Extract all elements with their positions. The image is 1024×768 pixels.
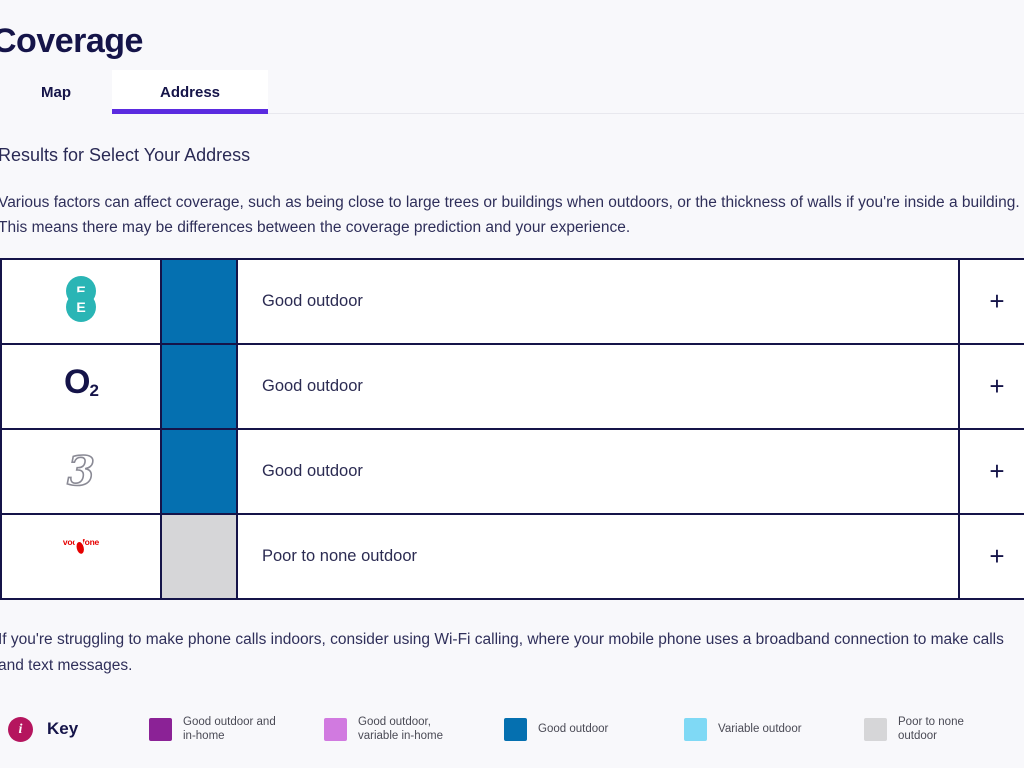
page-title: Coverage bbox=[0, 22, 143, 61]
coverage-checker-page: Coverage Map Address Results for Select … bbox=[0, 0, 1024, 768]
tab-bar: Map Address bbox=[0, 70, 1024, 114]
operator-logo-cell-vodafone: vodafone bbox=[1, 514, 161, 599]
table-row[interactable]: 3 Good outdoor + bbox=[1, 429, 1024, 514]
coverage-swatch-cell bbox=[161, 514, 237, 599]
tab-address[interactable]: Address bbox=[112, 70, 268, 114]
legend-item: Poor to none outdoor bbox=[864, 715, 1024, 743]
status-cell: Poor to none outdoor bbox=[237, 514, 959, 599]
table-row[interactable]: vodafone Poor to none outdoor + bbox=[1, 514, 1024, 599]
legend-swatch-variable-outdoor bbox=[684, 718, 707, 741]
plus-icon[interactable]: + bbox=[989, 371, 1004, 401]
coverage-key-bar: i Key Good outdoor and in-home Good outd… bbox=[0, 698, 1024, 760]
expand-cell[interactable]: + bbox=[959, 344, 1024, 429]
coverage-status-vodafone: Poor to none outdoor bbox=[238, 547, 417, 565]
coverage-swatch-vodafone bbox=[162, 515, 236, 598]
coverage-status-three: Good outdoor bbox=[238, 462, 363, 480]
coverage-results-table: E E Good outdoor + O2 bbox=[0, 258, 1024, 600]
legend-label: Good outdoor and in-home bbox=[183, 715, 276, 743]
tab-map-label: Map bbox=[41, 84, 71, 101]
status-cell: Good outdoor bbox=[237, 259, 959, 344]
legend-swatch-good-outdoor-variable-in-home bbox=[324, 718, 347, 741]
operator-logo-cell-three: 3 bbox=[1, 429, 161, 514]
three-logo: 3 bbox=[67, 448, 95, 495]
vodafone-logo: vodafone bbox=[54, 532, 108, 582]
key-label: Key bbox=[47, 719, 78, 739]
coverage-swatch-o2 bbox=[162, 345, 236, 428]
coverage-intro-text: Various factors can affect coverage, suc… bbox=[0, 190, 1024, 240]
legend-item: Good outdoor bbox=[504, 718, 684, 741]
legend-label: Good outdoor bbox=[538, 722, 608, 736]
expand-cell[interactable]: + bbox=[959, 259, 1024, 344]
info-icon: i bbox=[8, 717, 33, 742]
coverage-swatch-cell bbox=[161, 259, 237, 344]
status-cell: Good outdoor bbox=[237, 344, 959, 429]
expand-cell[interactable]: + bbox=[959, 429, 1024, 514]
legend-items: Good outdoor and in-home Good outdoor, v… bbox=[149, 715, 1024, 743]
operator-logo-cell-ee: E E bbox=[1, 259, 161, 344]
legend-swatch-poor-to-none-outdoor bbox=[864, 718, 887, 741]
o2-logo: O2 bbox=[64, 363, 98, 401]
coverage-status-ee: Good outdoor bbox=[238, 292, 363, 310]
legend-swatch-good-outdoor-in-home bbox=[149, 718, 172, 741]
o2-logo-subscript: 2 bbox=[89, 381, 97, 400]
status-cell: Good outdoor bbox=[237, 429, 959, 514]
legend-label: Variable outdoor bbox=[718, 722, 802, 736]
ee-logo: E E bbox=[66, 276, 96, 322]
legend-item: Good outdoor and in-home bbox=[149, 715, 324, 743]
coverage-swatch-cell bbox=[161, 429, 237, 514]
plus-icon[interactable]: + bbox=[989, 286, 1004, 316]
tab-address-label: Address bbox=[160, 84, 220, 101]
o2-logo-letter: O bbox=[64, 363, 89, 401]
legend-item: Variable outdoor bbox=[684, 718, 864, 741]
coverage-swatch-cell bbox=[161, 344, 237, 429]
tab-map[interactable]: Map bbox=[0, 70, 112, 114]
coverage-status-o2: Good outdoor bbox=[238, 377, 363, 395]
operator-logo-cell-o2: O2 bbox=[1, 344, 161, 429]
legend-swatch-good-outdoor bbox=[504, 718, 527, 741]
tab-bar-divider bbox=[268, 113, 1024, 114]
table-row[interactable]: O2 Good outdoor + bbox=[1, 344, 1024, 429]
plus-icon[interactable]: + bbox=[989, 541, 1004, 571]
wifi-calling-note: If you're struggling to make phone calls… bbox=[0, 627, 1024, 679]
legend-label: Good outdoor, variable in-home bbox=[358, 715, 443, 743]
coverage-swatch-ee bbox=[162, 260, 236, 343]
expand-cell[interactable]: + bbox=[959, 514, 1024, 599]
key-label-group: i Key bbox=[0, 717, 149, 742]
plus-icon[interactable]: + bbox=[989, 456, 1004, 486]
coverage-swatch-three bbox=[162, 430, 236, 513]
legend-label: Poor to none outdoor bbox=[898, 715, 964, 743]
table-row[interactable]: E E Good outdoor + bbox=[1, 259, 1024, 344]
ee-logo-letter-bottom: E bbox=[66, 292, 96, 322]
legend-item: Good outdoor, variable in-home bbox=[324, 715, 504, 743]
results-heading: Results for Select Your Address bbox=[0, 145, 250, 166]
